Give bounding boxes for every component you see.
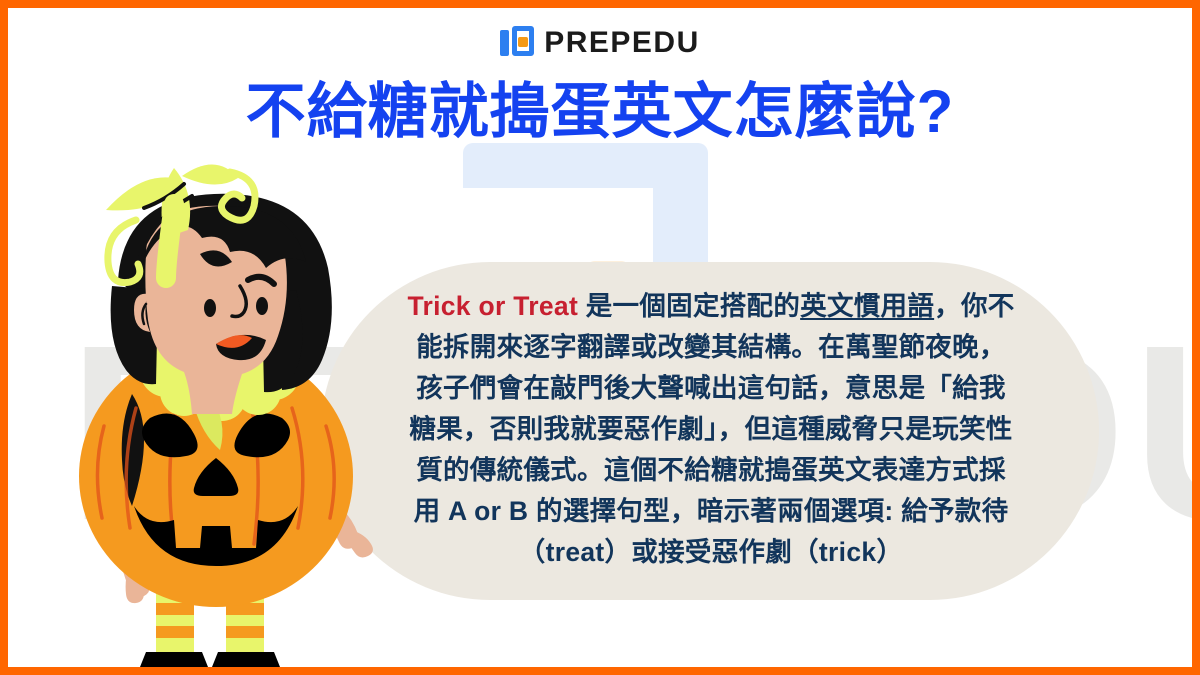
head bbox=[111, 194, 332, 414]
body-segment-2: 英文慣用語 bbox=[800, 291, 934, 321]
logo-left-bar bbox=[500, 30, 509, 56]
brand-logo: PREPEDU bbox=[8, 26, 1192, 60]
poster: PREPEDU bbox=[0, 0, 1200, 675]
girl-in-pumpkin-costume-illustration bbox=[70, 158, 400, 667]
logo-orange-dot bbox=[518, 37, 528, 47]
poster-canvas: PREPEDU bbox=[8, 8, 1192, 667]
body-segment-3: ，你不能拆開來逐字翻譯或改變其結構。在萬聖節夜晚，孩子們會在敲門後大聲喊出這句話… bbox=[409, 291, 1014, 567]
prepedu-square-icon bbox=[500, 26, 534, 60]
page-title: 不給糖就搗蛋英文怎麼說? bbox=[8, 80, 1192, 143]
body-segment-1: 是一個固定搭配的 bbox=[578, 291, 800, 321]
body-paragraph: Trick or Treat 是一個固定搭配的英文慣用語，你不能拆開來逐字翻譯或… bbox=[406, 286, 1016, 573]
brand-logo-text: PREPEDU bbox=[544, 26, 700, 60]
body-segment-0: Trick or Treat bbox=[407, 291, 578, 321]
